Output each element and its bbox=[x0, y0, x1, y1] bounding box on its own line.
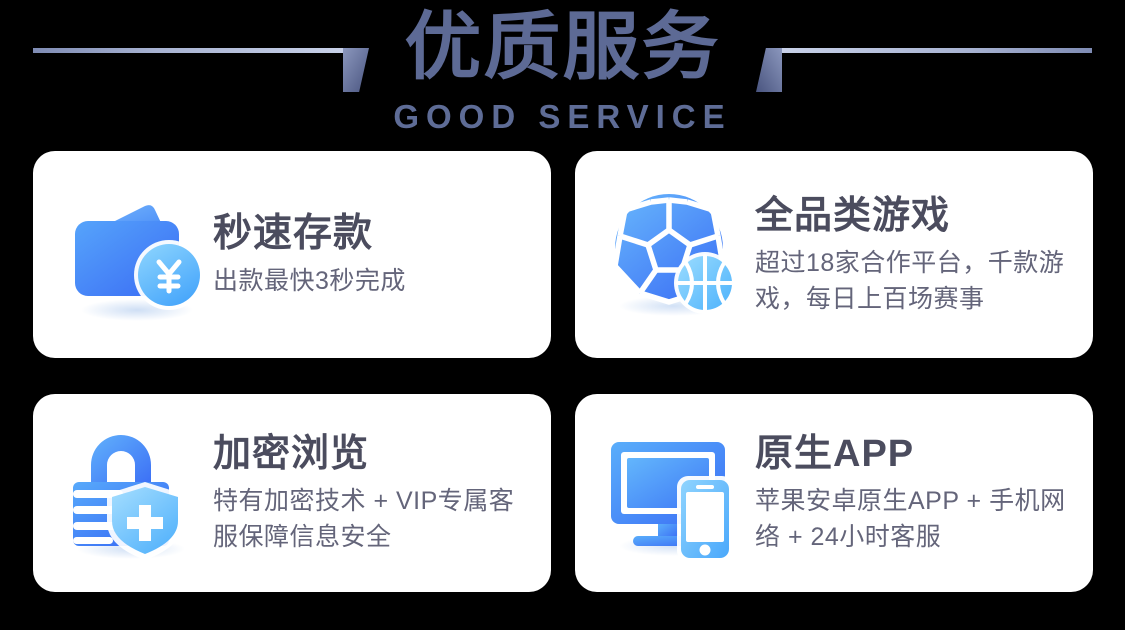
feature-card-encrypted-browsing[interactable]: 加密浏览 特有加密技术 + VIP专属客服保障信息安全 bbox=[33, 394, 551, 592]
monitor-phone-icon bbox=[601, 418, 751, 568]
promo-banner: 优质服务 GOOD SERVICE bbox=[0, 0, 1125, 630]
feature-card-desc: 苹果安卓原生APP + 手机网络 + 24小时客服 bbox=[755, 483, 1071, 555]
feature-card-all-games[interactable]: 全品类游戏 超过18家合作平台，千款游戏，每日上百场赛事 bbox=[575, 151, 1093, 358]
feature-card-title: 原生APP bbox=[755, 431, 1071, 477]
feature-card-text: 加密浏览 特有加密技术 + VIP专属客服保障信息安全 bbox=[209, 431, 529, 555]
feature-card-instant-deposit[interactable]: 秒速存款 出款最快3秒完成 bbox=[33, 151, 551, 358]
wallet-yen-icon bbox=[59, 180, 209, 330]
feature-card-title: 加密浏览 bbox=[213, 431, 529, 477]
banner-header: 优质服务 GOOD SERVICE bbox=[0, 0, 1125, 142]
soccer-basketball-icon bbox=[601, 180, 751, 330]
feature-card-title: 全品类游戏 bbox=[755, 193, 1071, 239]
feature-card-desc: 超过18家合作平台，千款游戏，每日上百场赛事 bbox=[755, 245, 1071, 317]
page-title: 优质服务 bbox=[0, 4, 1125, 90]
feature-card-title: 秒速存款 bbox=[213, 211, 529, 257]
feature-card-text: 原生APP 苹果安卓原生APP + 手机网络 + 24小时客服 bbox=[751, 431, 1071, 555]
feature-card-desc: 特有加密技术 + VIP专属客服保障信息安全 bbox=[213, 483, 529, 555]
feature-card-grid: 秒速存款 出款最快3秒完成 bbox=[33, 151, 1093, 592]
feature-card-native-app[interactable]: 原生APP 苹果安卓原生APP + 手机网络 + 24小时客服 bbox=[575, 394, 1093, 592]
page-subtitle: GOOD SERVICE bbox=[0, 98, 1125, 136]
feature-card-text: 全品类游戏 超过18家合作平台，千款游戏，每日上百场赛事 bbox=[751, 193, 1071, 317]
feature-card-desc: 出款最快3秒完成 bbox=[213, 263, 529, 299]
lock-shield-icon bbox=[59, 418, 209, 568]
feature-card-text: 秒速存款 出款最快3秒完成 bbox=[209, 211, 529, 299]
